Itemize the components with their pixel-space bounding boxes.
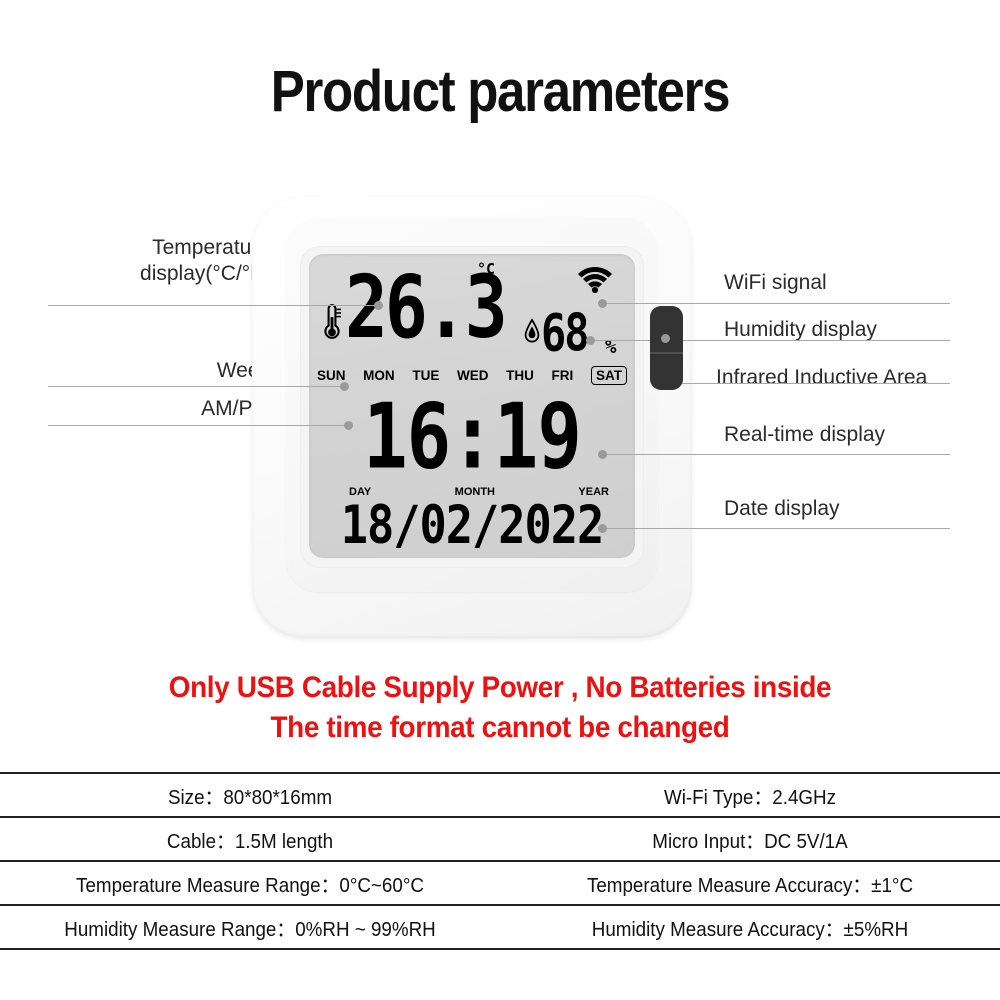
callout-week-label: Week — [20, 358, 270, 384]
leader-dot-temperature-display — [374, 301, 383, 310]
callout-temperature-display-line1: Temperature — [20, 235, 270, 261]
callout-real-time-display: Real-time display — [724, 422, 885, 448]
spec-cable: Cable：1.5M length — [15, 825, 485, 854]
humidity-value: 68 — [541, 308, 588, 359]
leader-line-humidity-display — [592, 340, 950, 341]
table-row: Size：80*80*16mm Wi-Fi Type：2.4GHz — [0, 774, 1000, 818]
specification-table: Size：80*80*16mm Wi-Fi Type：2.4GHz Cable：… — [0, 772, 1000, 950]
thermometer-icon — [321, 302, 343, 342]
leader-dot-week — [340, 382, 349, 391]
infrared-inductive-area — [650, 306, 683, 390]
callout-temperature-display: Temperature display(°C/°F) — [20, 235, 270, 287]
week-day-wed: WED — [457, 368, 489, 383]
spec-wifi-type: Wi-Fi Type：2.4GHz — [515, 781, 985, 810]
callout-temperature-display-line2: display(°C/°F) — [20, 261, 270, 287]
lcd-top-section: 26.3 °C — [309, 258, 635, 378]
leader-dot-wifi-signal — [598, 299, 607, 308]
week-day-tue: TUE — [412, 368, 439, 383]
leader-line-wifi-signal — [604, 303, 950, 304]
time-display: 16:19 — [309, 392, 635, 482]
callout-date-display-label: Date display — [724, 496, 840, 522]
leader-line-infrared-area — [665, 383, 950, 384]
lcd-screen: 26.3 °C — [309, 254, 635, 558]
week-day-sat-active: SAT — [591, 366, 627, 385]
callout-infrared-inductive-area: Infrared Inductive Area — [716, 365, 927, 391]
spec-temperature-range: Temperature Measure Range：0°C~60°C — [15, 869, 485, 898]
leader-line-week — [48, 386, 344, 387]
leader-line-real-time-display — [604, 454, 950, 455]
warning-line-2: The time format cannot be changed — [35, 708, 965, 748]
spec-size: Size：80*80*16mm — [15, 781, 485, 810]
spec-humidity-accuracy: Humidity Measure Accuracy：±5%RH — [515, 913, 985, 942]
temperature-unit-celsius: °C — [477, 262, 505, 277]
table-row: Humidity Measure Range：0%RH ~ 99%RH Humi… — [0, 906, 1000, 950]
week-day-row: SUN MON TUE WED THU FRI SAT — [317, 366, 627, 385]
week-day-fri: FRI — [552, 368, 574, 383]
wifi-signal-icon — [575, 264, 615, 294]
leader-dot-am-pm — [344, 421, 353, 430]
week-day-sun: SUN — [317, 368, 346, 383]
callout-wifi-signal: WiFi signal — [724, 270, 827, 296]
warning-line-1: Only USB Cable Supply Power , No Batteri… — [35, 668, 965, 708]
temperature-value: 26.3 — [345, 264, 525, 351]
warning-text-block: Only USB Cable Supply Power , No Batteri… — [0, 668, 1000, 748]
water-drop-icon — [524, 318, 540, 344]
leader-line-temperature-display — [48, 305, 378, 306]
callout-week: Week — [20, 358, 270, 384]
week-day-mon: MON — [363, 368, 395, 383]
week-day-thu: THU — [506, 368, 534, 383]
spec-micro-input: Micro Input：DC 5V/1A — [515, 825, 985, 854]
temperature-humidity-sensor-device: 26.3 °C — [252, 196, 692, 638]
callout-real-time-display-label: Real-time display — [724, 422, 885, 448]
callout-wifi-signal-label: WiFi signal — [724, 270, 827, 296]
temperature-unit-indicator: °C — [477, 262, 505, 277]
product-parameters-infographic: Product parameters Temperature display(°… — [0, 0, 1000, 1000]
leader-dot-real-time-display — [598, 450, 607, 459]
page-title: Product parameters — [60, 58, 940, 125]
leader-dot-humidity-display — [586, 336, 595, 345]
spec-temperature-accuracy: Temperature Measure Accuracy：±1°C — [515, 869, 985, 898]
table-row: Temperature Measure Range：0°C~60°C Tempe… — [0, 862, 1000, 906]
date-display: 18/02/2022 — [309, 500, 635, 553]
leader-line-am-pm — [48, 425, 348, 426]
callout-am-pm-label: AM/PM — [20, 396, 270, 422]
leader-line-date-display — [604, 528, 950, 529]
callout-am-pm: AM/PM — [20, 396, 270, 422]
leader-dot-date-display — [598, 524, 607, 533]
callout-infrared-inductive-area-label: Infrared Inductive Area — [716, 365, 927, 391]
callout-date-display: Date display — [724, 496, 840, 522]
table-row: Cable：1.5M length Micro Input：DC 5V/1A — [0, 818, 1000, 862]
leader-dot-infrared-area — [661, 334, 670, 343]
spec-humidity-range: Humidity Measure Range：0%RH ~ 99%RH — [15, 913, 485, 942]
